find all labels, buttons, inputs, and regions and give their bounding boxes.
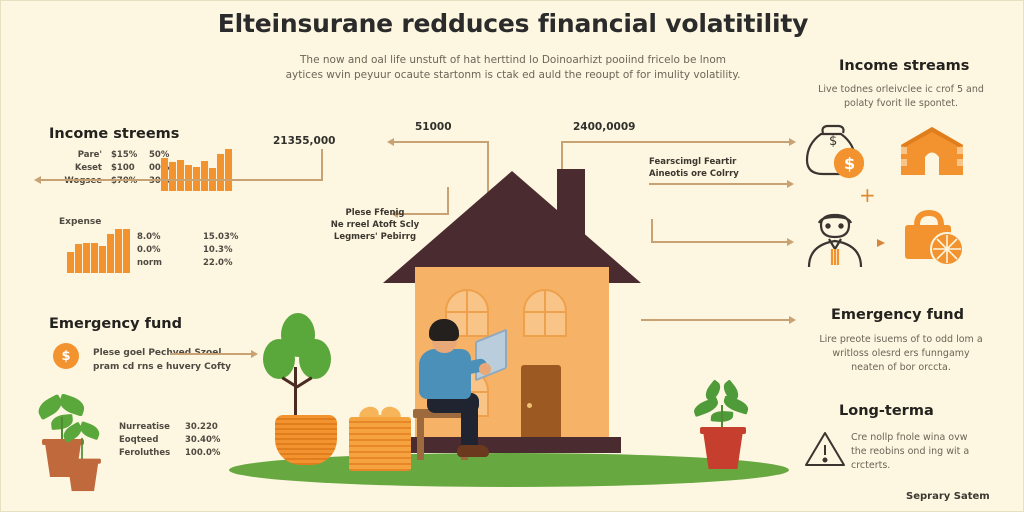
connector-segment [649, 183, 789, 185]
connector-segment [171, 353, 253, 355]
leaf-icon [702, 379, 724, 402]
center-right-note: Fearscimgl Feartir Aineotis ore Colrry [649, 156, 799, 180]
stem [81, 438, 83, 460]
bar [75, 244, 82, 273]
warning-triangle-icon [803, 429, 847, 473]
bar [83, 243, 90, 273]
arrow-right-icon [787, 180, 794, 188]
row-value: 30.40% [185, 434, 235, 447]
left-income-heading: Income streems [49, 126, 179, 142]
table-row: Eoqteed 30.40% [119, 434, 235, 447]
connector-segment [651, 241, 789, 243]
page-subtitle: The now and oal life unstuft of hat hert… [263, 53, 763, 83]
bar [67, 252, 74, 273]
arrow-left-icon [34, 176, 41, 184]
row-value: 30.220 [185, 421, 235, 434]
bar [161, 158, 168, 191]
row-label: Nurreatise [119, 421, 185, 434]
right-emergency-heading: Emergency fund [831, 307, 964, 323]
right-emergency-body: Lire preote isuems of to odd lom a writl… [801, 333, 1001, 375]
potted-tree [263, 309, 331, 469]
front-door [521, 365, 561, 443]
connector-segment [561, 141, 791, 143]
gift-body [349, 417, 411, 471]
bar [169, 162, 176, 191]
plus-icon: + [859, 183, 876, 207]
arrow-right-icon [789, 316, 796, 324]
left-expense-table: 8.0% 15.03% 0.0% 10.3% norm 22.0% [137, 231, 253, 270]
table-row: Nurreatise 30.220 [119, 421, 235, 434]
person-hand [479, 363, 491, 375]
right-income-heading: Income streams [839, 58, 969, 74]
tree-leaf [263, 339, 295, 379]
emergency-line-2: pram cd rns e huvery Cofty [93, 360, 231, 374]
row-value: 100.0% [185, 447, 235, 460]
row-label: Eoqteed [119, 434, 185, 447]
bar [177, 160, 184, 191]
row-label: Keset [49, 162, 111, 175]
potted-plant-red [691, 383, 753, 471]
left-emergency-heading: Emergency fund [49, 316, 182, 332]
connector-segment [641, 319, 791, 321]
right-income-body: Live todnes orleivclee ic crof 5 and pol… [801, 83, 1001, 111]
table-row: 8.0% 15.03% [137, 231, 253, 244]
left-bottom-table: Nurreatise 30.220 Eoqteed 30.40% Ferolut… [119, 421, 235, 460]
bar [123, 229, 130, 273]
row-value-1: $70% [111, 175, 149, 188]
gift-box [347, 395, 413, 471]
row-value: 10.3% [203, 244, 253, 257]
arrow-right-icon [787, 238, 794, 246]
row-label: Feroluthes [119, 447, 185, 460]
person-hair [429, 319, 459, 341]
connector-segment [393, 141, 489, 143]
left-expense-heading: Expense [59, 215, 101, 229]
arrow-left-icon [387, 138, 394, 146]
arrow-right-icon [789, 138, 796, 146]
connector-segment [41, 179, 322, 181]
longterm-line-3: crcterts. [851, 459, 969, 473]
tree-leaf [299, 339, 331, 379]
income-line-1: Live todnes orleivclee ic crof 5 and [801, 83, 1001, 97]
emergency-line-3: neaten of bor orccta. [801, 361, 1001, 375]
subtitle-line-1: The now and oal life unstuft of hat hert… [263, 53, 763, 68]
bar [185, 165, 192, 191]
connector-segment [651, 219, 653, 243]
emergency-line-1: Lire preote isuems of to odd lom a [801, 333, 1001, 347]
footer-label: Seprary Satem [906, 491, 990, 502]
person-lower-leg [461, 403, 478, 451]
arrow-right-icon [877, 239, 885, 247]
left-income-bar-chart [161, 149, 232, 191]
row-value: 22.0% [203, 257, 253, 270]
emergency-line-2: writloss olesrd ers funngamy [801, 347, 1001, 361]
professional-person-icon [801, 209, 869, 275]
currency-glyph: $ [61, 349, 70, 364]
svg-text:$: $ [844, 154, 855, 173]
row-value: 15.03% [203, 231, 253, 244]
row-label: norm [137, 257, 203, 270]
person-shoe [457, 445, 489, 457]
connector-segment [321, 149, 323, 181]
table-row: 0.0% 10.3% [137, 244, 253, 257]
bar [107, 234, 114, 273]
right-longterm-heading: Long-termа [839, 403, 934, 419]
row-label: Wogsee [49, 175, 111, 188]
income-line-2: polaty fvorit lle spontet. [801, 97, 1001, 111]
table-row: norm 22.0% [137, 257, 253, 270]
bar [91, 243, 98, 273]
left-emergency-body: Plese goel Pechved Szoel pram cd rns e h… [93, 346, 231, 374]
note-line-2: Aineotis ore Colrry [649, 168, 799, 180]
pot-body [703, 431, 743, 469]
left-flow-label: 21355,000 [273, 135, 335, 147]
laptop-icon [475, 329, 507, 382]
currency-circle-icon: $ [53, 343, 79, 369]
page-title: Elteinsurane redduces financial volatiti… [1, 9, 1024, 38]
tree-branch [296, 376, 313, 388]
note-line-1: Fearscimgl Feartir [649, 156, 799, 168]
money-bag-icon: $ $ [799, 123, 871, 187]
person-with-laptop [413, 319, 503, 469]
tree-pot [275, 415, 337, 465]
bar [99, 246, 106, 273]
row-value-1: $100 [111, 162, 149, 175]
row-value-1: $15% [111, 149, 149, 162]
longterm-line-1: Cre nollp fnole wina ovw [851, 431, 969, 445]
window-right [523, 289, 567, 337]
pot-body [67, 462, 98, 491]
leaf-icon [57, 393, 87, 416]
potted-plant-small [57, 419, 107, 493]
longterm-line-2: the reobins ond ing wit a [851, 445, 969, 459]
row-label: 8.0% [137, 231, 203, 244]
infographic-canvas: Elteinsurane redduces financial volatiti… [0, 0, 1024, 512]
left-expense-bar-chart [67, 229, 130, 273]
right-flow-label: 2400,0009 [573, 121, 635, 133]
bar [115, 229, 122, 273]
arrow-right-icon [251, 350, 258, 358]
bar [201, 161, 208, 191]
center-flow-label: 51000 [415, 121, 452, 133]
lock-bag-icon [899, 207, 967, 273]
bar [225, 149, 232, 191]
bench-leg [417, 416, 424, 460]
door-knob [527, 403, 532, 408]
svg-text:$: $ [829, 134, 837, 149]
right-longterm-body: Cre nollp fnole wina ovw the reobins ond… [851, 431, 969, 473]
row-label: Pare' [49, 149, 111, 162]
tree-trunk [294, 367, 297, 419]
table-row: Feroluthes 100.0% [119, 447, 235, 460]
subtitle-line-2: aytices wvin peyuur ocaute startonm is c… [263, 68, 763, 83]
row-label: 0.0% [137, 244, 203, 257]
house-barn-icon [899, 125, 965, 181]
bar [217, 154, 224, 191]
